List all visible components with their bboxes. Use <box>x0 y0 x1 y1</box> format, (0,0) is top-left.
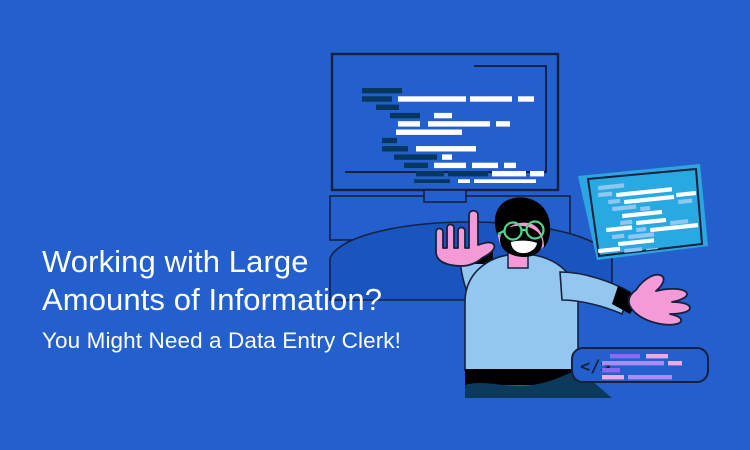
monitor-code-bar <box>396 130 462 135</box>
monitor-code-bar <box>434 113 452 118</box>
code-snippet-card: </> <box>572 348 708 382</box>
monitor-code-bar <box>416 171 444 176</box>
monitor-code-bar <box>530 171 544 176</box>
monitor-code-bar <box>496 121 510 126</box>
snippet-code-bar <box>646 354 668 358</box>
monitor-code-bar <box>382 146 408 151</box>
snippet-code-bar <box>602 361 664 365</box>
monitor-code-bar <box>472 163 498 168</box>
monitor-code-bar <box>398 121 420 126</box>
monitor-code-bar <box>398 96 466 101</box>
monitor-code-bar <box>404 163 428 168</box>
monitor-code-bar <box>434 163 466 168</box>
monitor-code-bar <box>362 88 402 93</box>
foreground-base <box>0 398 750 450</box>
banner-root: </> Working with Large Amounts of Inform… <box>0 0 750 450</box>
snippet-code-bar <box>628 375 672 379</box>
monitor-code-bar <box>416 146 476 151</box>
monitor-code-bar <box>362 96 392 101</box>
monitor-code-bar <box>390 113 420 118</box>
code-glyph: </> <box>580 357 611 377</box>
snippet-code-bar <box>668 361 682 365</box>
snippet-code-bar <box>602 368 620 372</box>
snippet-code-bar <box>602 375 624 379</box>
monitor-code-bar <box>382 138 397 143</box>
monitor-code-bar <box>394 154 437 159</box>
monitor-code-bar <box>504 163 516 168</box>
monitor-code-bar <box>448 171 488 176</box>
monitor-code-bar <box>442 154 452 159</box>
illustration-canvas: </> <box>0 0 750 450</box>
monitor-code-bar <box>470 96 512 101</box>
person-head <box>495 197 550 257</box>
monitor-code-bar <box>492 171 526 176</box>
snippet-code-bar <box>610 354 640 358</box>
monitor-code-bar <box>428 121 490 126</box>
monitor-code-bar <box>376 105 399 110</box>
desktop-monitor <box>332 54 558 202</box>
tilted-tablet <box>578 164 708 260</box>
monitor-code-bar <box>518 96 534 101</box>
